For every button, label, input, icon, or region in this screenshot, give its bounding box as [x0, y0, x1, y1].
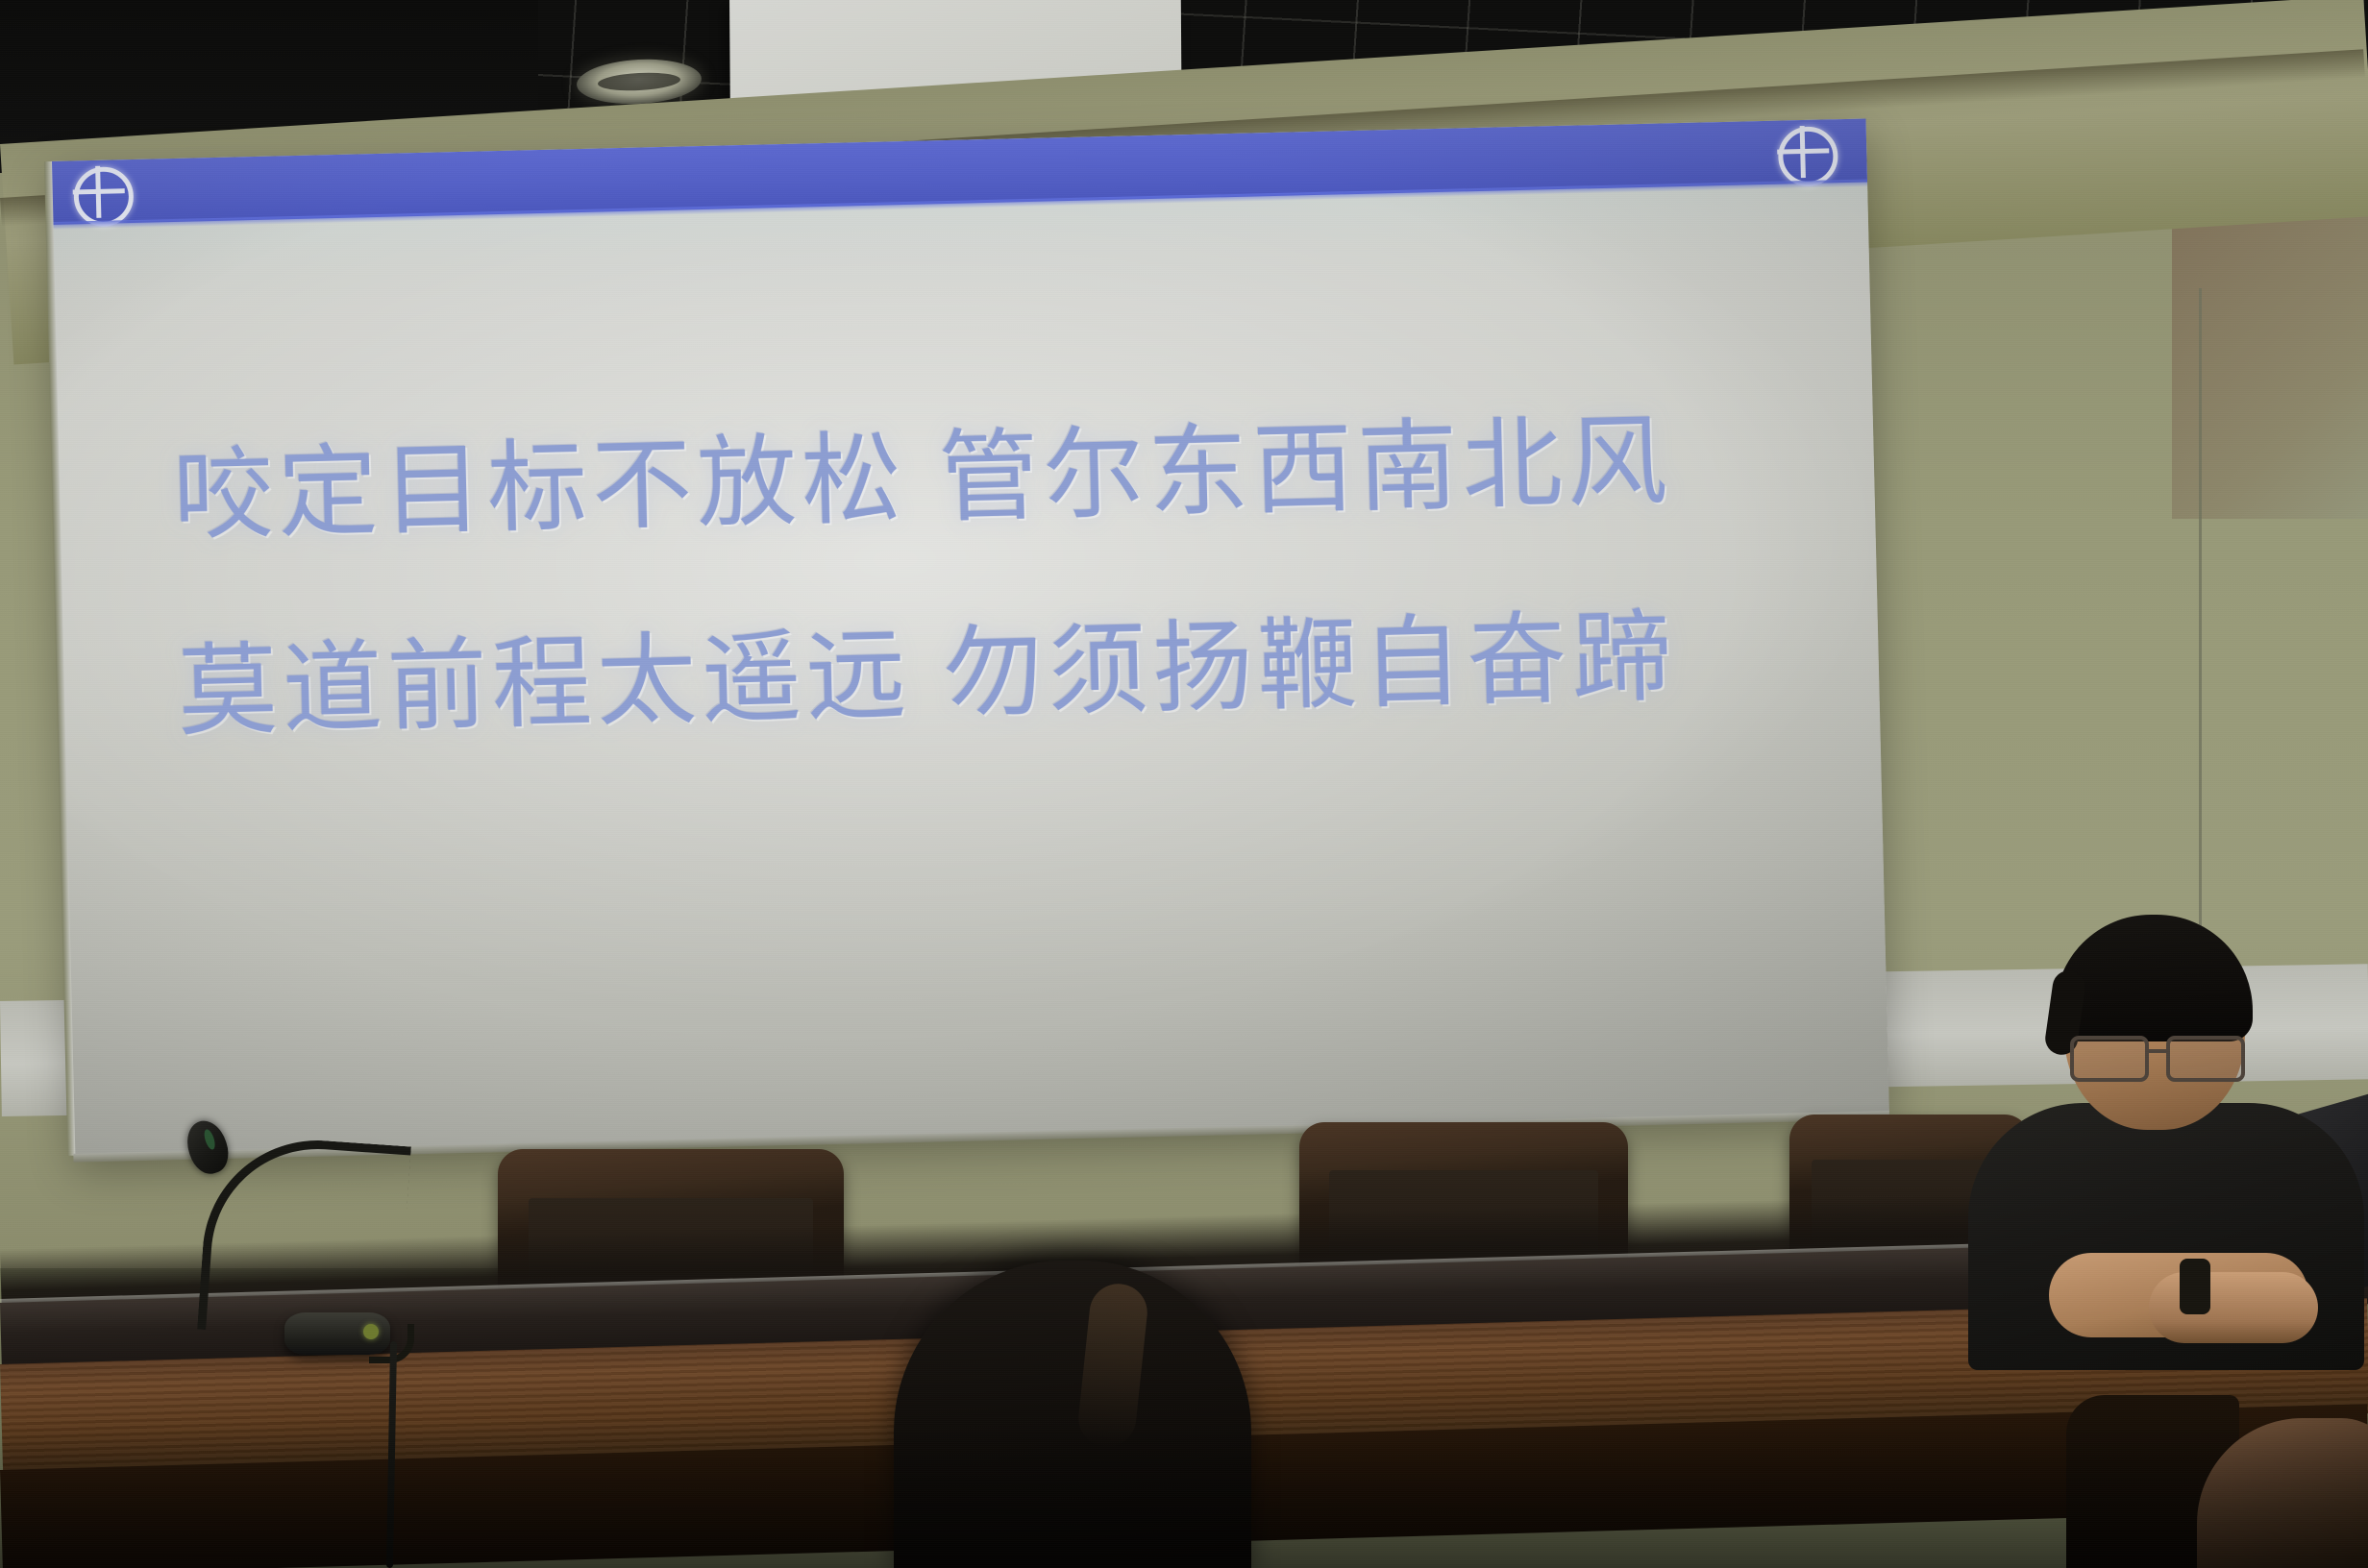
speaker-arm-upper	[2149, 1272, 2318, 1343]
conference-room-photo: 咬定目标不放松 管尔东西南北风 莫道前程太遥远 勿须扬鞭自奋蹄	[0, 0, 2368, 1568]
glasses-icon	[2068, 1036, 2247, 1074]
projection-screen: 咬定目标不放松 管尔东西南北风 莫道前程太遥远 勿须扬鞭自奋蹄	[50, 118, 1889, 1155]
screen-vignette	[50, 118, 1889, 1155]
audience-head-center	[894, 1261, 1251, 1568]
glasses-lens-right	[2166, 1036, 2245, 1082]
glasses-lens-left	[2070, 1036, 2149, 1082]
wall-seam	[2199, 288, 2202, 961]
speaker-hair	[2055, 915, 2253, 1041]
seated-speaker	[1961, 915, 2368, 1366]
wristwatch-icon	[2180, 1259, 2210, 1314]
